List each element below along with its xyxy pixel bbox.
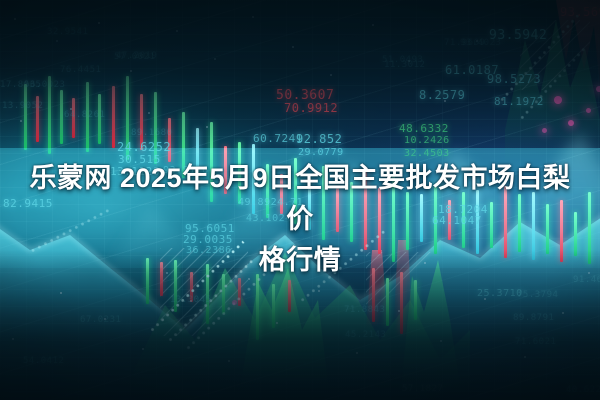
page-title-line-2: 格行情 [18, 240, 582, 281]
page-title: 乐蒙网 2025年5月9日全国主要批发市场白梨价 格行情 [0, 158, 600, 281]
page-title-line-1: 乐蒙网 2025年5月9日全国主要批发市场白梨价 [18, 158, 582, 240]
stock-chart-banner: 93.594261.018798.52738.257981.197224.625… [0, 0, 600, 400]
